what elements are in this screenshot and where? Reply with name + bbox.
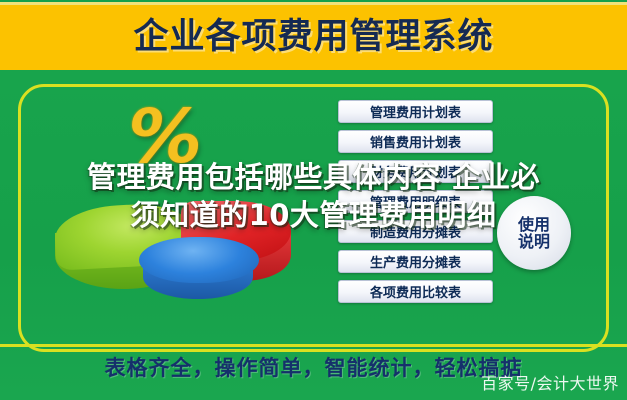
poster-canvas: 企业各项费用管理系统 % 管理费用计划表 销售费用计划表 财务费用计划表 管理费… [0, 0, 627, 400]
overlay-headline-line1: 管理费用包括哪些具体内容 企业必 [87, 160, 540, 194]
list-item[interactable]: 生产费用分摊表 [338, 250, 493, 273]
overlay-headline: 管理费用包括哪些具体内容 企业必 须知道的10大管理费用明细 [22, 158, 605, 234]
usage-button-line2: 说明 [518, 233, 550, 250]
list-item[interactable]: 各项费用比较表 [338, 280, 493, 303]
list-item[interactable]: 管理费用计划表 [338, 100, 493, 123]
header-top-hairline [0, 2, 627, 5]
page-title: 企业各项费用管理系统 [0, 8, 627, 59]
list-item[interactable]: 销售费用计划表 [338, 130, 493, 153]
overlay-headline-line2: 须知道的10大管理费用明细 [22, 196, 605, 234]
watermark: 百家号/会计大世界 [481, 370, 619, 394]
slogan-divider [0, 344, 627, 347]
pie-slice-blue [139, 237, 259, 283]
